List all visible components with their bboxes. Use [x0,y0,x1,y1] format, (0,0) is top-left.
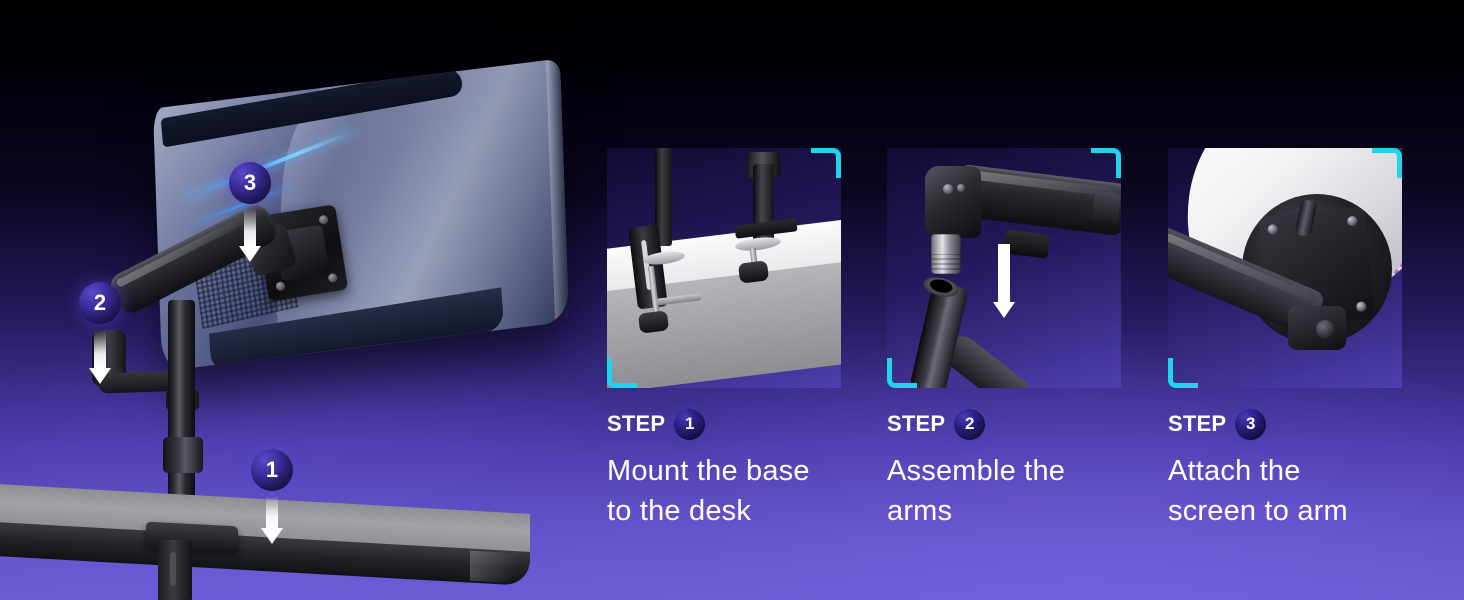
step-2-caption: Assemble the arms [887,451,1121,531]
step-1-caption: Mount the base to the desk [607,451,841,531]
tilt-joint-pivot [1316,320,1334,338]
step-card-2: STEP 2 Assemble the arms [887,148,1121,531]
vesa-screw [275,281,285,291]
monitor-graphic [153,59,569,372]
vesa-screw [1267,224,1278,235]
step-card-1: STEP 1 Mount the base to the desk [607,148,841,531]
vesa-screw [318,215,328,225]
step-3-label: STEP [1168,411,1226,437]
step-2-label: STEP [887,411,945,437]
hero-callout-badge-1: 1 [251,449,293,491]
step-3-caption: Attach the screen to arm [1168,451,1402,531]
grommet-screw-knob [738,260,769,283]
corner-bracket-top-right-icon [1091,148,1121,178]
corner-bracket-bottom-left-icon [607,358,637,388]
elbow-pivot-screw [943,184,953,194]
monitor-back-panel [153,59,569,372]
hero-product-image: 3 2 1 [0,0,600,600]
step-2-down-arrow-icon [993,244,1015,318]
pole-height-collar [163,437,203,473]
step-1-label-row: STEP 1 [607,409,841,439]
step-card-3: STEP 3 Attach the screen to arm [1168,148,1402,531]
step-2-thumbnail [887,148,1121,388]
hero-arrow-1 [261,496,283,544]
corner-bracket-bottom-left-icon [887,358,917,388]
step-2-number-badge: 2 [954,409,985,440]
arm-end-knuckle [1091,191,1121,228]
infographic-canvas: 3 2 1 [0,0,1464,600]
step-1-label: STEP [607,411,665,437]
vesa-screw [1347,216,1358,227]
corner-bracket-top-right-icon [811,148,841,178]
vesa-screw [328,273,338,283]
clamp-slot [170,552,176,586]
hero-callout-badge-3: 3 [229,162,271,204]
step-1-number-badge: 1 [674,409,705,440]
steps-section: STEP 1 Mount the base to the desk [600,0,1464,600]
step-3-thumbnail [1168,148,1402,388]
step-3-number-badge: 3 [1235,409,1266,440]
vesa-screw [1356,301,1367,312]
corner-bracket-top-right-icon [1372,148,1402,178]
hero-arrow-2 [89,330,111,384]
arm-elbow-housing [925,166,981,238]
step-3-label-row: STEP 3 [1168,409,1402,439]
step-2-label-row: STEP 2 [887,409,1121,439]
hero-callout-badge-2: 2 [79,282,121,324]
hero-arrow-3 [239,208,261,262]
elbow-pivot-screw-secondary [957,184,965,192]
clamp-screw-knob [638,310,669,333]
corner-bracket-bottom-left-icon [1168,358,1198,388]
step-1-thumbnail [607,148,841,388]
arm-insert-collar [931,234,961,274]
